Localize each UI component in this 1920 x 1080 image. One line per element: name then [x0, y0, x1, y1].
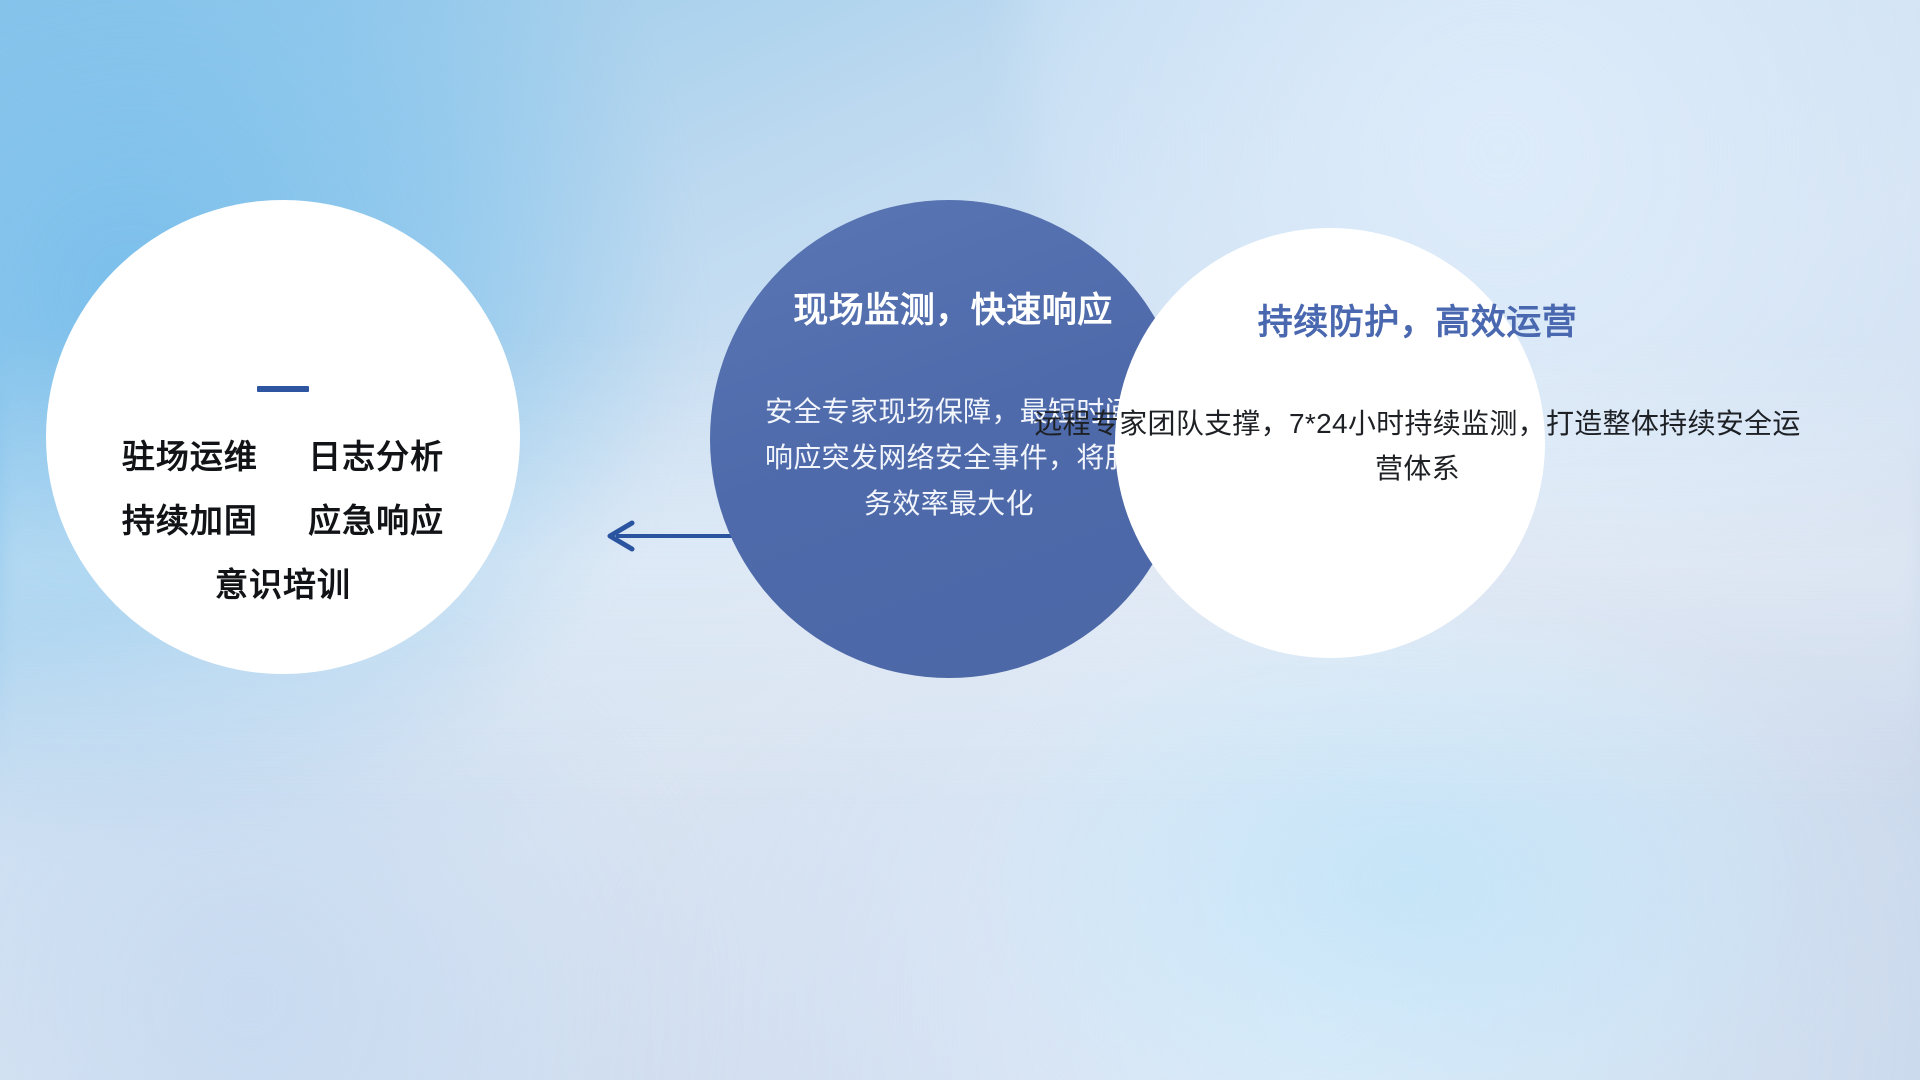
capability-row-1: 驻场运维 日志分析 [46, 440, 520, 473]
capability-row-2: 持续加固 应急响应 [46, 504, 520, 537]
left-capability-circle[interactable]: 驻场运维 日志分析 持续加固 应急响应 意识培训 [46, 200, 520, 674]
capability-row-3: 意识培训 [46, 568, 520, 601]
capability-item: 持续加固 [122, 502, 258, 539]
capability-item: 驻场运维 [122, 438, 258, 475]
capability-item: 应急响应 [308, 502, 444, 539]
capability-item: 日志分析 [308, 438, 444, 475]
slide-canvas: 驻场运维 日志分析 持续加固 应急响应 意识培训 现场监测，快速响应 安全专家现… [0, 0, 1920, 1080]
left-circle-content: 驻场运维 日志分析 持续加固 应急响应 意识培训 [46, 386, 520, 601]
right-circle-body: 远程专家团队支撑，7*24小时持续监测，打造整体持续安全运营体系 [1015, 401, 1820, 492]
right-circle-content: 持续防护，高效运营 远程专家团队支撑，7*24小时持续监测，打造整体持续安全运营… [1015, 304, 1820, 491]
right-operations-circle[interactable]: 持续防护，高效运营 远程专家团队支撑，7*24小时持续监测，打造整体持续安全运营… [1115, 228, 1545, 658]
accent-dash-icon [257, 386, 309, 392]
right-circle-heading: 持续防护，高效运营 [1015, 304, 1820, 343]
